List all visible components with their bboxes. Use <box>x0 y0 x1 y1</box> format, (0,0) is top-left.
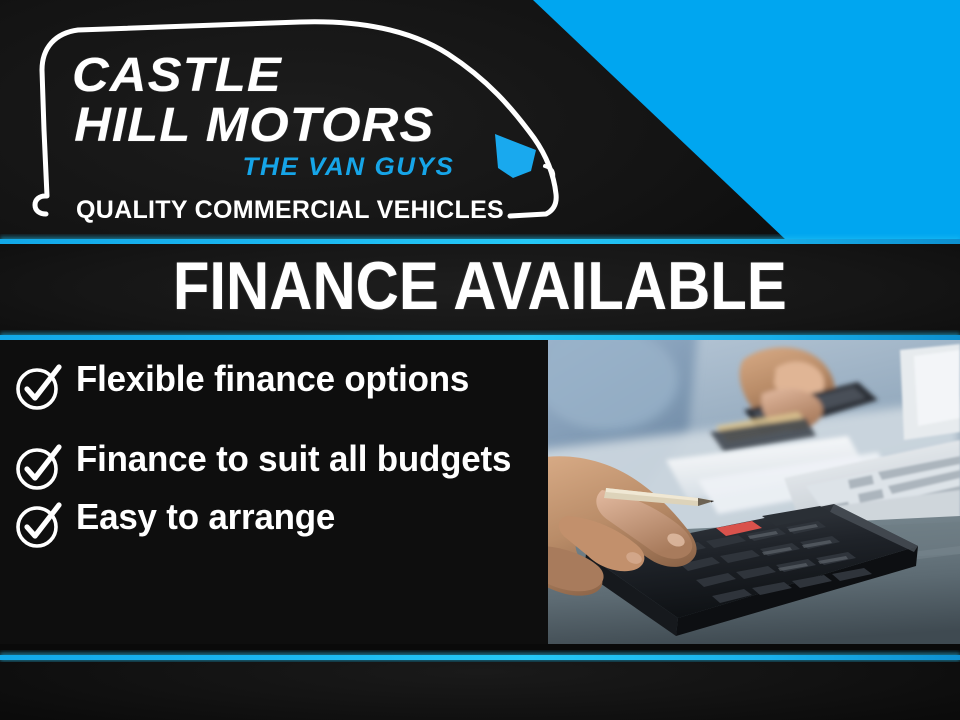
page-title: FINANCE AVAILABLE <box>173 252 787 320</box>
feature-list: Flexible finance options Finance to suit… <box>0 340 552 652</box>
title-bar: FINANCE AVAILABLE <box>0 244 960 332</box>
circle-check-icon <box>14 362 64 412</box>
divider-core <box>0 655 960 660</box>
finance-available-banner: CASTLE HILL MOTORS THE VAN GUYS QUALITY … <box>0 0 960 720</box>
feature-label: Easy to arrange <box>76 498 335 536</box>
logo-strapline: QUALITY COMMERCIAL VEHICLES <box>76 196 504 225</box>
header-section: CASTLE HILL MOTORS THE VAN GUYS QUALITY … <box>0 0 960 240</box>
feature-label: Finance to suit all budgets <box>76 440 511 478</box>
logo-line-hill-motors: HILL MOTORS <box>72 102 623 149</box>
logo-line-castle: CASTLE <box>72 52 623 99</box>
feature-label: Flexible finance options <box>76 360 469 398</box>
circle-check-icon <box>14 442 64 492</box>
finance-photo <box>548 340 960 652</box>
list-item: Finance to suit all budgets <box>14 440 552 492</box>
content-section: Flexible finance options Finance to suit… <box>0 340 960 652</box>
logo-tagline: THE VAN GUYS <box>72 153 613 182</box>
list-item: Easy to arrange <box>14 498 552 550</box>
footer-section <box>0 662 960 720</box>
list-item: Flexible finance options <box>14 360 552 412</box>
circle-check-icon <box>14 500 64 550</box>
logo-wordmark: CASTLE HILL MOTORS THE VAN GUYS <box>72 52 592 182</box>
